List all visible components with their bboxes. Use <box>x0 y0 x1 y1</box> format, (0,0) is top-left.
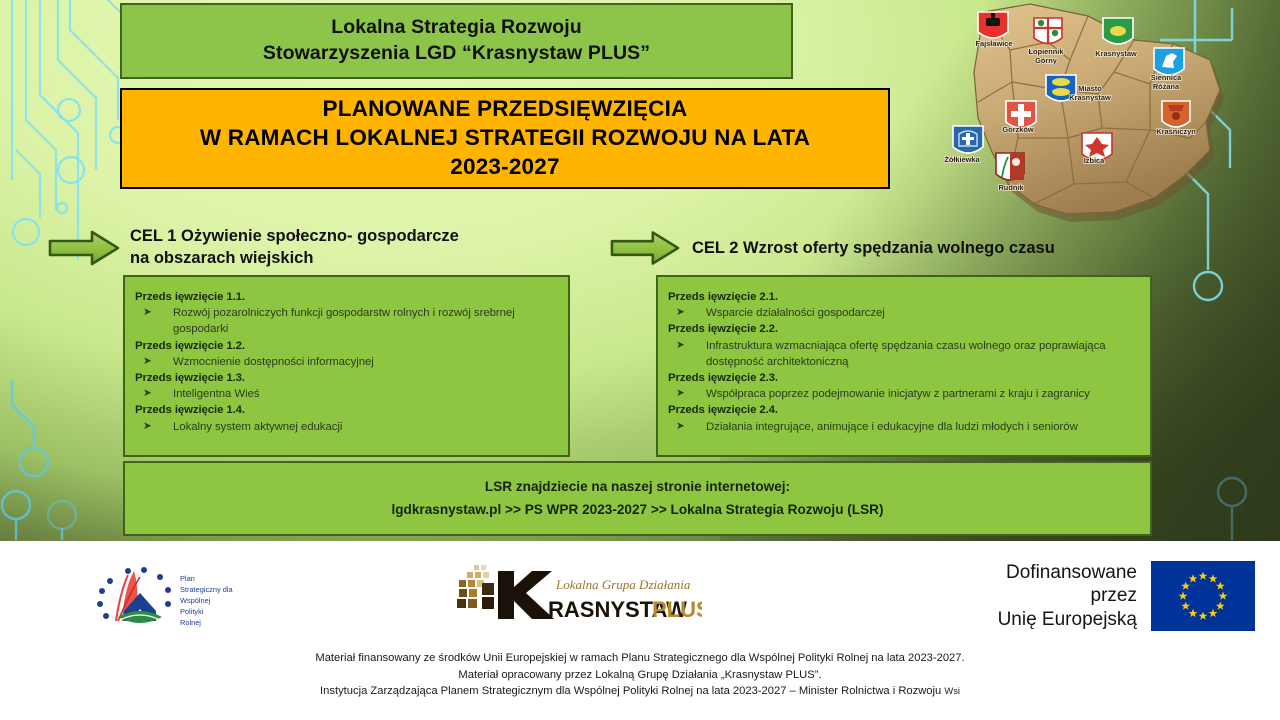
measure-label-1-4: Przeds ięwzięcie 1.4. <box>135 402 558 418</box>
measure-label-2-1: Przeds ięwzięcie 2.1. <box>668 289 1140 305</box>
map-label-lopiennik-1: Łopiennik <box>1029 47 1065 56</box>
pixel-mosaic <box>457 565 494 609</box>
disclaimer-line3-main: Instytucja Zarządzająca Planem Strategic… <box>320 685 944 697</box>
measure-label-1-2: Przeds ięwzięcie 1.2. <box>135 338 558 354</box>
poster-title-text: Lokalna Strategia Rozwoju Stowarzyszenia… <box>263 15 650 66</box>
poster-banner-box: PLANOWANE PRZEDSIĘWZIĘCIA W RAMACH LOKAL… <box>120 88 890 189</box>
poster-root: Lokalna Strategia Rozwoju Stowarzyszenia… <box>0 0 1280 720</box>
lsr-website-text: LSR znajdziecie na naszej stronie intern… <box>391 476 883 520</box>
disclaimer-line3-tail: Wsi <box>944 685 960 696</box>
plan-strategiczny-wpr-logo: Plan Strategiczny dla Wspólnej Polityki … <box>88 559 288 631</box>
map-label-miasto-2: Krasnystaw <box>1069 93 1111 102</box>
map-label-fajslawice: Fajsławice <box>976 39 1013 48</box>
banner-line2: W RAMACH LOKALNEJ STRATEGII ROZWOJU NA L… <box>200 125 810 150</box>
map-label-krasnystaw: Krasnystaw <box>1095 49 1137 58</box>
map-label-krasniczyn: Kraśniczyn <box>1156 127 1196 136</box>
goal-1-heading: CEL 1 Ożywienie społeczno- gospodarcze n… <box>130 226 550 270</box>
poster-title-line1: Lokalna Strategia Rozwoju <box>331 16 582 38</box>
lsr-line1: LSR znajdziecie na naszej stronie intern… <box>485 479 790 494</box>
map-label-rudnik: Rudnik <box>998 183 1024 192</box>
banner-line1: PLANOWANE PRZEDSIĘWZIĘCIA <box>322 96 687 121</box>
map-label-zolkiewka: Żółkiewka <box>944 155 980 164</box>
measure-label-2-3: Przeds ięwzięcie 2.3. <box>668 370 1140 386</box>
arrow-icon-cel-2 <box>610 230 680 266</box>
footer-logos: Plan Strategiczny dla Wspólnej Polityki … <box>0 541 1280 646</box>
goal-2-heading-line1: CEL 2 Wzrost oferty spędzania wolnego cz… <box>692 239 1055 257</box>
measure-label-1-1: Przeds ięwzięcie 1.1. <box>135 289 558 305</box>
eu-funding-text: Dofinansowane przez Unię Europejską <box>955 561 1151 632</box>
krasnystaw-county-map: Fajsławice Łopiennik Górny Krasnystaw Si… <box>938 0 1280 228</box>
goal-1-heading-line1: CEL 1 Ożywienie społeczno- gospodarcze <box>130 227 459 245</box>
ps-wpr-l3: Wspólnej <box>180 596 211 605</box>
map-label-siennica-1: Siennica <box>1151 73 1182 82</box>
disclaimer-line1: Materiał finansowany ze środków Unii Eur… <box>0 650 1280 667</box>
goal-1-heading-line2: na obszarach wiejskich <box>130 249 313 267</box>
goal-2-heading: CEL 2 Wzrost oferty spędzania wolnego cz… <box>692 238 1142 260</box>
eu-funding-line2: Unię Europejską <box>955 608 1137 632</box>
arrow-icon-cel-1 <box>48 230 120 266</box>
ps-wpr-l4: Polityki <box>180 607 204 616</box>
bullet-arrow-icon: ➤ <box>676 386 685 401</box>
goal-2-measures-panel: Przeds ięwzięcie 2.1. ➤Wsparcie działaln… <box>656 275 1152 457</box>
measure-text-1-4: ➤Lokalny system aktywnej edukacji <box>135 419 558 435</box>
map-label-gorzkow: Gorzków <box>1002 125 1033 134</box>
measure-text-2-3: ➤Współpraca poprzez podejmowanie inicjat… <box>668 386 1140 402</box>
lgd-plus: PLUS <box>652 597 702 622</box>
measure-label-2-4: Przeds ięwzięcie 2.4. <box>668 402 1140 418</box>
map-label-izbica: Izbica <box>1084 156 1105 165</box>
measure-text-1-1: ➤Rozwój pozarolniczych funkcji gospodars… <box>135 305 558 337</box>
measure-text-1-2: ➤Wzmocnienie dostępności informacyjnej <box>135 354 558 370</box>
footer-disclaimer: Materiał finansowany ze środków Unii Eur… <box>0 650 1280 700</box>
eu-funding-line1: Dofinansowane przez <box>955 561 1137 608</box>
map-label-siennica-2: Różana <box>1153 82 1180 91</box>
ps-wpr-l1: Plan <box>180 574 195 583</box>
measure-label-2-2: Przeds ięwzięcie 2.2. <box>668 321 1140 337</box>
eu-flag-icon <box>1151 561 1255 631</box>
lgd-krasnystaw-plus-logo: Lokalna Grupa Działania RASNYSTAW PLUS <box>452 563 702 627</box>
measure-text-2-1: ➤Wsparcie działalności gospodarczej <box>668 305 1140 321</box>
bullet-arrow-icon: ➤ <box>143 419 152 434</box>
measure-label-1-3: Przeds ięwzięcie 1.3. <box>135 370 558 386</box>
bullet-arrow-icon: ➤ <box>143 354 152 369</box>
measure-text-2-4: ➤Działania integrujące, animujące i eduk… <box>668 419 1140 435</box>
measure-text-1-3: ➤Inteligentna Wieś <box>135 386 558 402</box>
k-letter <box>498 571 554 619</box>
bullet-arrow-icon: ➤ <box>143 386 152 401</box>
lsr-line2: lgdkrasnystaw.pl >> PS WPR 2023-2027 >> … <box>391 502 883 517</box>
bullet-arrow-icon: ➤ <box>143 305 152 320</box>
bullet-arrow-icon: ➤ <box>676 305 685 320</box>
banner-line3: 2023-2027 <box>450 154 559 179</box>
goal-1-measures-panel: Przeds ięwzięcie 1.1. ➤Rozwój pozarolnic… <box>123 275 570 457</box>
measure-text-2-2: ➤Infrastruktura wzmacniająca ofertę spęd… <box>668 338 1140 370</box>
bullet-arrow-icon: ➤ <box>676 419 685 434</box>
poster-title-line2: Stowarzyszenia LGD “Krasnystaw PLUS” <box>263 42 650 64</box>
lsr-website-box: LSR znajdziecie na naszej stronie intern… <box>123 461 1152 536</box>
map-label-lopiennik-2: Górny <box>1035 56 1058 65</box>
ps-wpr-l2: Strategiczny dla <box>180 585 233 594</box>
disclaimer-line2: Materiał opracowany przez Lokalną Grupę … <box>0 667 1280 684</box>
ps-wpr-l5: Rolnej <box>180 618 201 627</box>
eu-funding-logo: Dofinansowane przez Unię Europejską <box>955 557 1255 635</box>
lgd-tagline: Lokalna Grupa Działania <box>555 577 691 592</box>
map-label-miasto-1: Miasto <box>1078 84 1102 93</box>
ps-wpr-logo-text: Plan Strategiczny dla Wspólnej Polityki … <box>180 574 233 627</box>
footer-band: Plan Strategiczny dla Wspólnej Polityki … <box>0 541 1280 720</box>
bullet-arrow-icon: ➤ <box>676 338 685 353</box>
poster-title-box: Lokalna Strategia Rozwoju Stowarzyszenia… <box>120 3 793 79</box>
poster-banner-text: PLANOWANE PRZEDSIĘWZIĘCIA W RAMACH LOKAL… <box>200 95 810 181</box>
disclaimer-line3: Instytucja Zarządzająca Planem Strategic… <box>0 683 1280 700</box>
